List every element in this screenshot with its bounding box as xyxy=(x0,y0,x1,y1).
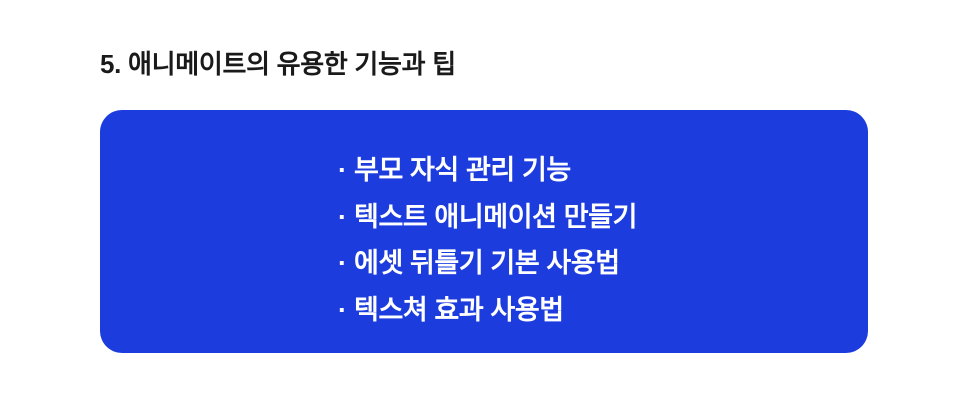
list-item: · 텍스트 애니메이션 만들기 xyxy=(338,195,637,242)
list-item: · 에셋 뒤틀기 기본 사용법 xyxy=(338,241,637,288)
list-item: · 텍스쳐 효과 사용법 xyxy=(338,288,637,335)
bullet-dot-icon: · xyxy=(338,248,354,279)
page-title: 5. 애니메이트의 유용한 기능과 팁 xyxy=(100,47,456,81)
list-item: · 부모 자식 관리 기능 xyxy=(338,148,637,195)
bullet-dot-icon: · xyxy=(338,295,354,326)
list-item-label: 에셋 뒤틀기 기본 사용법 xyxy=(354,241,620,280)
list-item-label: 텍스트 애니메이션 만들기 xyxy=(354,195,637,234)
list-item-label: 부모 자식 관리 기능 xyxy=(354,148,571,187)
feature-list: · 부모 자식 관리 기능 · 텍스트 애니메이션 만들기 · 에셋 뒤틀기 기… xyxy=(338,148,637,334)
bullet-dot-icon: · xyxy=(338,202,354,233)
bullet-dot-icon: · xyxy=(338,155,354,186)
feature-list-card: · 부모 자식 관리 기능 · 텍스트 애니메이션 만들기 · 에셋 뒤틀기 기… xyxy=(100,110,868,353)
list-item-label: 텍스쳐 효과 사용법 xyxy=(354,288,564,327)
slide-canvas: 5. 애니메이트의 유용한 기능과 팁 · 부모 자식 관리 기능 · 텍스트 … xyxy=(0,0,978,410)
